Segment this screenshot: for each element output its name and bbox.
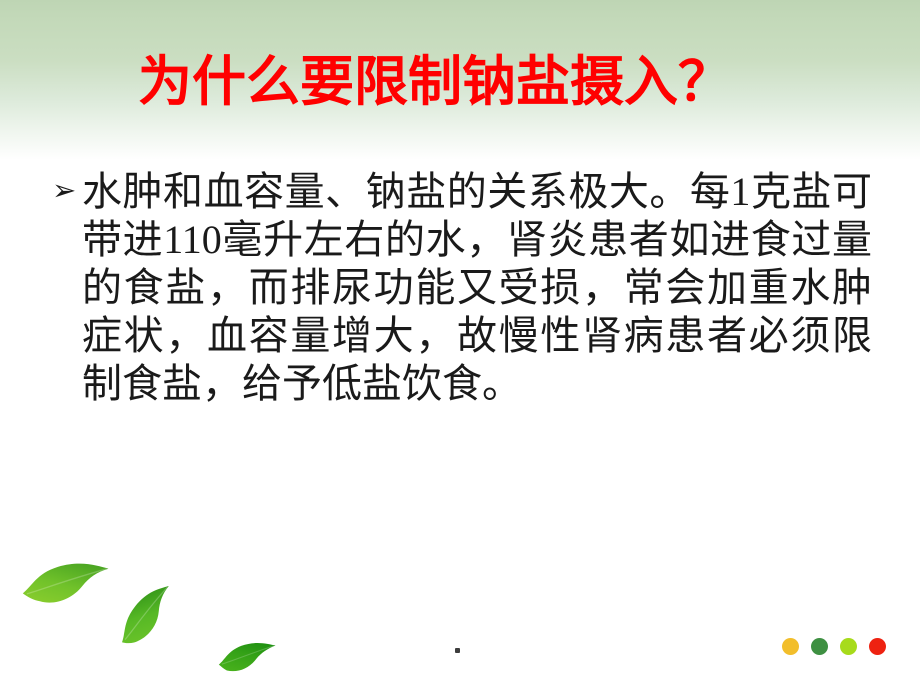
slide-title: 为什么要限制钠盐摄入？: [138, 49, 858, 115]
decorative-dot-row: [782, 638, 886, 655]
leaf-small-icon: [215, 636, 281, 678]
bullet-paragraph-text: 水肿和血容量、钠盐的关系极大。每1克盐可带进110毫升左右的水，肾炎患者如进食过…: [82, 168, 872, 408]
slide-canvas: 为什么要限制钠盐摄入？ ➢ 水肿和血容量、钠盐的关系极大。每1克盐可带进110毫…: [0, 0, 920, 690]
center-page-dot: [455, 648, 460, 653]
dot-amber-icon: [782, 638, 799, 655]
body-content: ➢ 水肿和血容量、钠盐的关系极大。每1克盐可带进110毫升左右的水，肾炎患者如进…: [52, 168, 872, 408]
dot-green-icon: [811, 638, 828, 655]
bullet-list-item: ➢ 水肿和血容量、钠盐的关系极大。每1克盐可带进110毫升左右的水，肾炎患者如进…: [52, 168, 872, 408]
arrow-bullet-icon: ➢: [52, 176, 76, 205]
dot-red-icon: [869, 638, 886, 655]
leaf-large-icon: [18, 556, 114, 612]
leaf-medium-icon: [108, 585, 186, 647]
dot-lime-icon: [840, 638, 857, 655]
